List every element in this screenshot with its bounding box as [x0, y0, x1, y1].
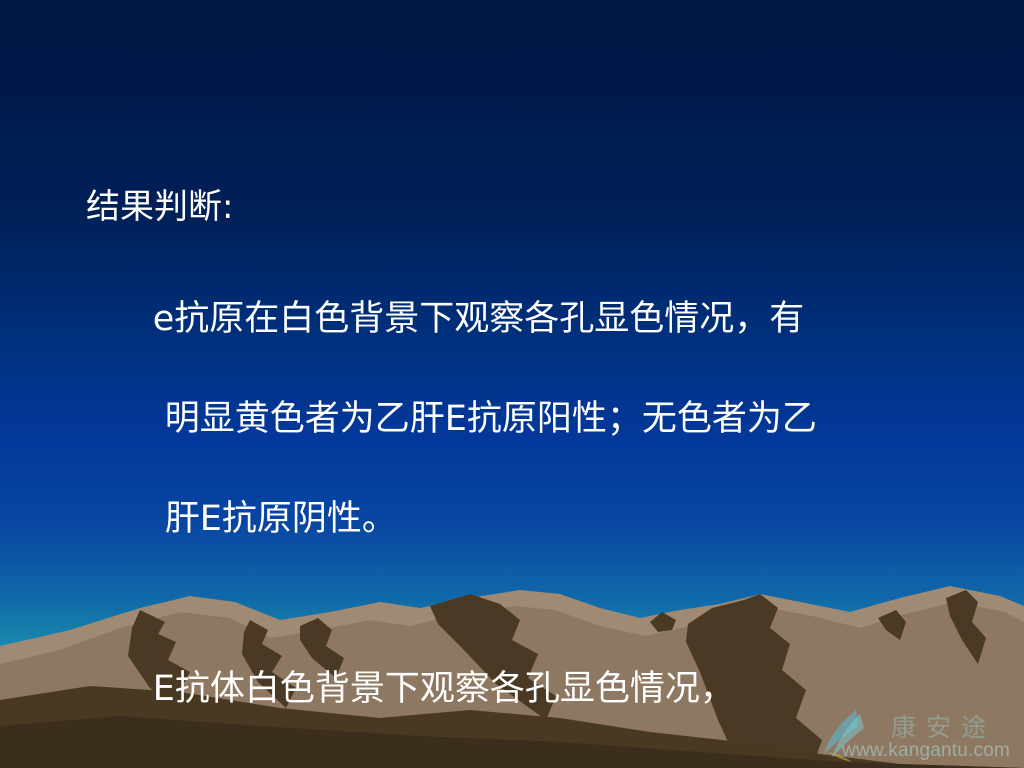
paragraph-e-antigen-line-1: e抗原在白色背景下观察各孔显色情况，有 [153, 299, 805, 339]
paragraph-e-antigen-line-2: 明显黄色者为乙肝E抗原阳性；无色者为乙 [165, 399, 817, 439]
paragraph-e-antigen-line-3: 肝E抗原阴性。 [165, 499, 397, 539]
paragraph-spacer [86, 594, 966, 614]
result-judgement-heading: 结果判断: [86, 182, 966, 232]
paragraph-e-antibody: E抗体白色背景下观察各孔显色情况， HBeAb阳性无色；HBeAb阴性显色。 [86, 614, 966, 768]
presentation-slide: 康安途 www.kangantu.com 结果判断: e抗原在白色背景下观察各孔… [0, 0, 1024, 768]
slide-text-body: 结果判断: e抗原在白色背景下观察各孔显色情况，有 明显黄色者为乙肝E抗原阳性；… [86, 182, 966, 768]
paragraph-e-antibody-line-1: E抗体白色背景下观察各孔显色情况， [153, 669, 735, 709]
paragraph-e-antigen: e抗原在白色背景下观察各孔显色情况，有 明显黄色者为乙肝E抗原阳性；无色者为乙 … [86, 244, 966, 594]
